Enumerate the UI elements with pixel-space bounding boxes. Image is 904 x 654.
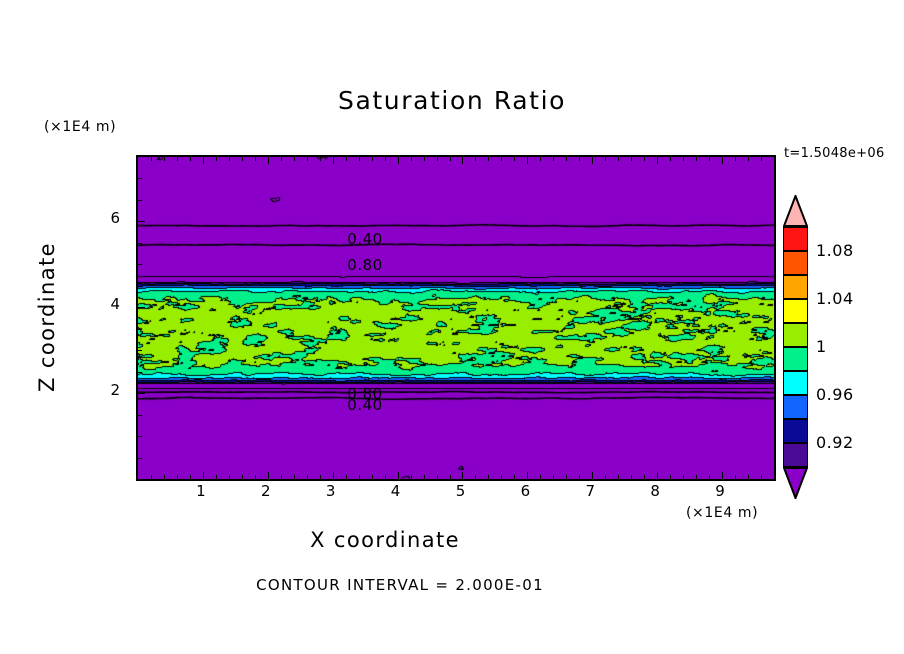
x-tick [501, 475, 502, 479]
colorbar-tick-label: 0.96 [816, 385, 854, 404]
x-tick [190, 157, 191, 161]
x-tick-label: 2 [251, 482, 281, 500]
x-tick [514, 157, 515, 161]
x-tick [372, 475, 373, 479]
y-tick [138, 436, 142, 437]
x-tick [242, 475, 243, 479]
x-tick [683, 157, 684, 161]
x-tick [566, 475, 567, 479]
x-tick [229, 157, 230, 161]
x-tick [294, 475, 295, 479]
x-tick [216, 157, 217, 161]
y-tick [138, 200, 142, 201]
x-tick [605, 475, 606, 479]
y-tick [138, 458, 142, 459]
x-tick [294, 157, 295, 161]
x-tick [164, 157, 165, 161]
x-tick [255, 475, 256, 479]
colorbar [783, 227, 808, 467]
colorbar-band [783, 251, 808, 275]
page-title: Saturation Ratio [0, 86, 904, 115]
x-tick [709, 157, 710, 161]
colorbar-tick-label: 1 [816, 337, 827, 356]
x-tick [488, 475, 489, 479]
y-tick [138, 329, 142, 330]
x-axis-title: X coordinate [0, 528, 770, 552]
x-tick [631, 157, 632, 161]
x-tick-label: 4 [381, 482, 411, 500]
colorbar-band [783, 419, 808, 443]
x-tick [424, 475, 425, 479]
y-tick [138, 307, 145, 308]
colorbar-tick-label: 0.92 [816, 433, 854, 452]
x-tick [398, 472, 399, 479]
colorbar-bottom-arrow [783, 467, 808, 499]
x-tick [722, 472, 723, 479]
x-tick [501, 157, 502, 161]
colorbar-band [783, 371, 808, 395]
x-tick [372, 157, 373, 161]
x-tick-label: 3 [316, 482, 346, 500]
x-tick [631, 475, 632, 479]
x-tick [579, 157, 580, 161]
contour-label: 0.40 [347, 396, 382, 414]
x-tick [735, 475, 736, 479]
x-tick [190, 475, 191, 479]
x-tick [722, 157, 723, 164]
x-tick [683, 475, 684, 479]
x-tick [385, 157, 386, 161]
colorbar-tick-label: 1.08 [816, 241, 854, 260]
x-tick [709, 475, 710, 479]
x-tick [735, 157, 736, 161]
x-tick-label: 5 [445, 482, 475, 500]
x-tick [411, 475, 412, 479]
colorbar-tick-label: 1.04 [816, 289, 854, 308]
x-tick [605, 157, 606, 161]
x-tick-label: 6 [510, 482, 540, 500]
x-tick [450, 475, 451, 479]
x-tick [657, 157, 658, 164]
x-tick [333, 472, 334, 479]
x-tick [359, 157, 360, 161]
x-tick [346, 475, 347, 479]
x-tick [670, 475, 671, 479]
x-tick [346, 157, 347, 161]
contour-plot-figure: Saturation Ratio (×1E4 m) t=1.5048e+06 0… [0, 0, 904, 654]
x-tick [385, 475, 386, 479]
y-tick [138, 286, 142, 287]
x-tick [437, 157, 438, 161]
x-tick [229, 475, 230, 479]
contour-interval-note: CONTOUR INTERVAL = 2.000E-01 [0, 576, 800, 594]
x-tick [488, 157, 489, 161]
x-tick [540, 157, 541, 161]
x-tick [437, 475, 438, 479]
x-tick [216, 475, 217, 479]
x-tick [696, 157, 697, 161]
colorbar-top-arrow [783, 195, 808, 227]
x-tick [644, 475, 645, 479]
x-tick [475, 157, 476, 161]
x-tick [748, 157, 749, 161]
x-tick-label: 7 [575, 482, 605, 500]
x-tick [320, 157, 321, 161]
y-tick [138, 264, 142, 265]
x-tick [151, 475, 152, 479]
x-tick [177, 475, 178, 479]
x-tick-label: 9 [705, 482, 735, 500]
x-tick [748, 475, 749, 479]
x-tick [320, 475, 321, 479]
colorbar-band [783, 299, 808, 323]
x-tick [514, 475, 515, 479]
x-tick [164, 475, 165, 479]
x-tick [398, 157, 399, 164]
colorbar-band [783, 275, 808, 299]
y-tick-label: 2 [96, 381, 120, 399]
x-tick [281, 475, 282, 479]
contour-label: 0.80 [347, 256, 382, 274]
colorbar-band [783, 443, 808, 467]
x-tick [203, 472, 204, 479]
y-tick-label: 4 [96, 295, 120, 313]
y-tick-label: 6 [96, 209, 120, 227]
x-tick [592, 472, 593, 479]
x-tick [657, 472, 658, 479]
y-tick [138, 350, 142, 351]
x-tick [177, 157, 178, 161]
y-tick [138, 221, 145, 222]
y-tick [138, 415, 142, 416]
x-tick [333, 157, 334, 164]
y-axis-unit-label: (×1E4 m) [44, 119, 116, 135]
x-tick [553, 157, 554, 161]
x-tick [359, 475, 360, 479]
x-tick [203, 157, 204, 164]
x-tick [566, 157, 567, 161]
x-tick [670, 157, 671, 161]
y-tick [138, 178, 142, 179]
colorbar-band [783, 227, 808, 251]
x-tick-label: 1 [186, 482, 216, 500]
colorbar-band [783, 347, 808, 371]
x-tick [307, 157, 308, 161]
x-tick [424, 157, 425, 161]
x-tick [450, 157, 451, 161]
x-tick [761, 475, 762, 479]
x-tick [281, 157, 282, 161]
x-tick-label: 8 [640, 482, 670, 500]
x-axis-unit-label: (×1E4 m) [686, 505, 758, 521]
x-tick [592, 157, 593, 164]
x-tick [475, 475, 476, 479]
time-annotation: t=1.5048e+06 [784, 146, 885, 161]
colorbar-band [783, 323, 808, 347]
x-tick [644, 157, 645, 161]
x-tick [579, 475, 580, 479]
x-tick [151, 157, 152, 161]
plot-area: 0.400.800.800.40 [136, 155, 776, 481]
x-tick [553, 475, 554, 479]
x-tick [462, 157, 463, 164]
x-tick [462, 472, 463, 479]
y-axis-title: Z coordinate [35, 237, 59, 397]
contour-field-canvas [138, 157, 774, 479]
contour-label: 0.40 [347, 230, 382, 248]
x-tick [268, 157, 269, 164]
x-tick [618, 475, 619, 479]
colorbar-band [783, 395, 808, 419]
x-tick [696, 475, 697, 479]
x-tick [761, 157, 762, 161]
x-tick [242, 157, 243, 161]
x-tick [618, 157, 619, 161]
x-tick [527, 472, 528, 479]
x-tick [307, 475, 308, 479]
x-tick [268, 472, 269, 479]
y-tick [138, 393, 145, 394]
x-tick [540, 475, 541, 479]
x-tick [255, 157, 256, 161]
y-tick [138, 243, 142, 244]
y-tick [138, 372, 142, 373]
x-tick [411, 157, 412, 161]
x-tick [527, 157, 528, 164]
